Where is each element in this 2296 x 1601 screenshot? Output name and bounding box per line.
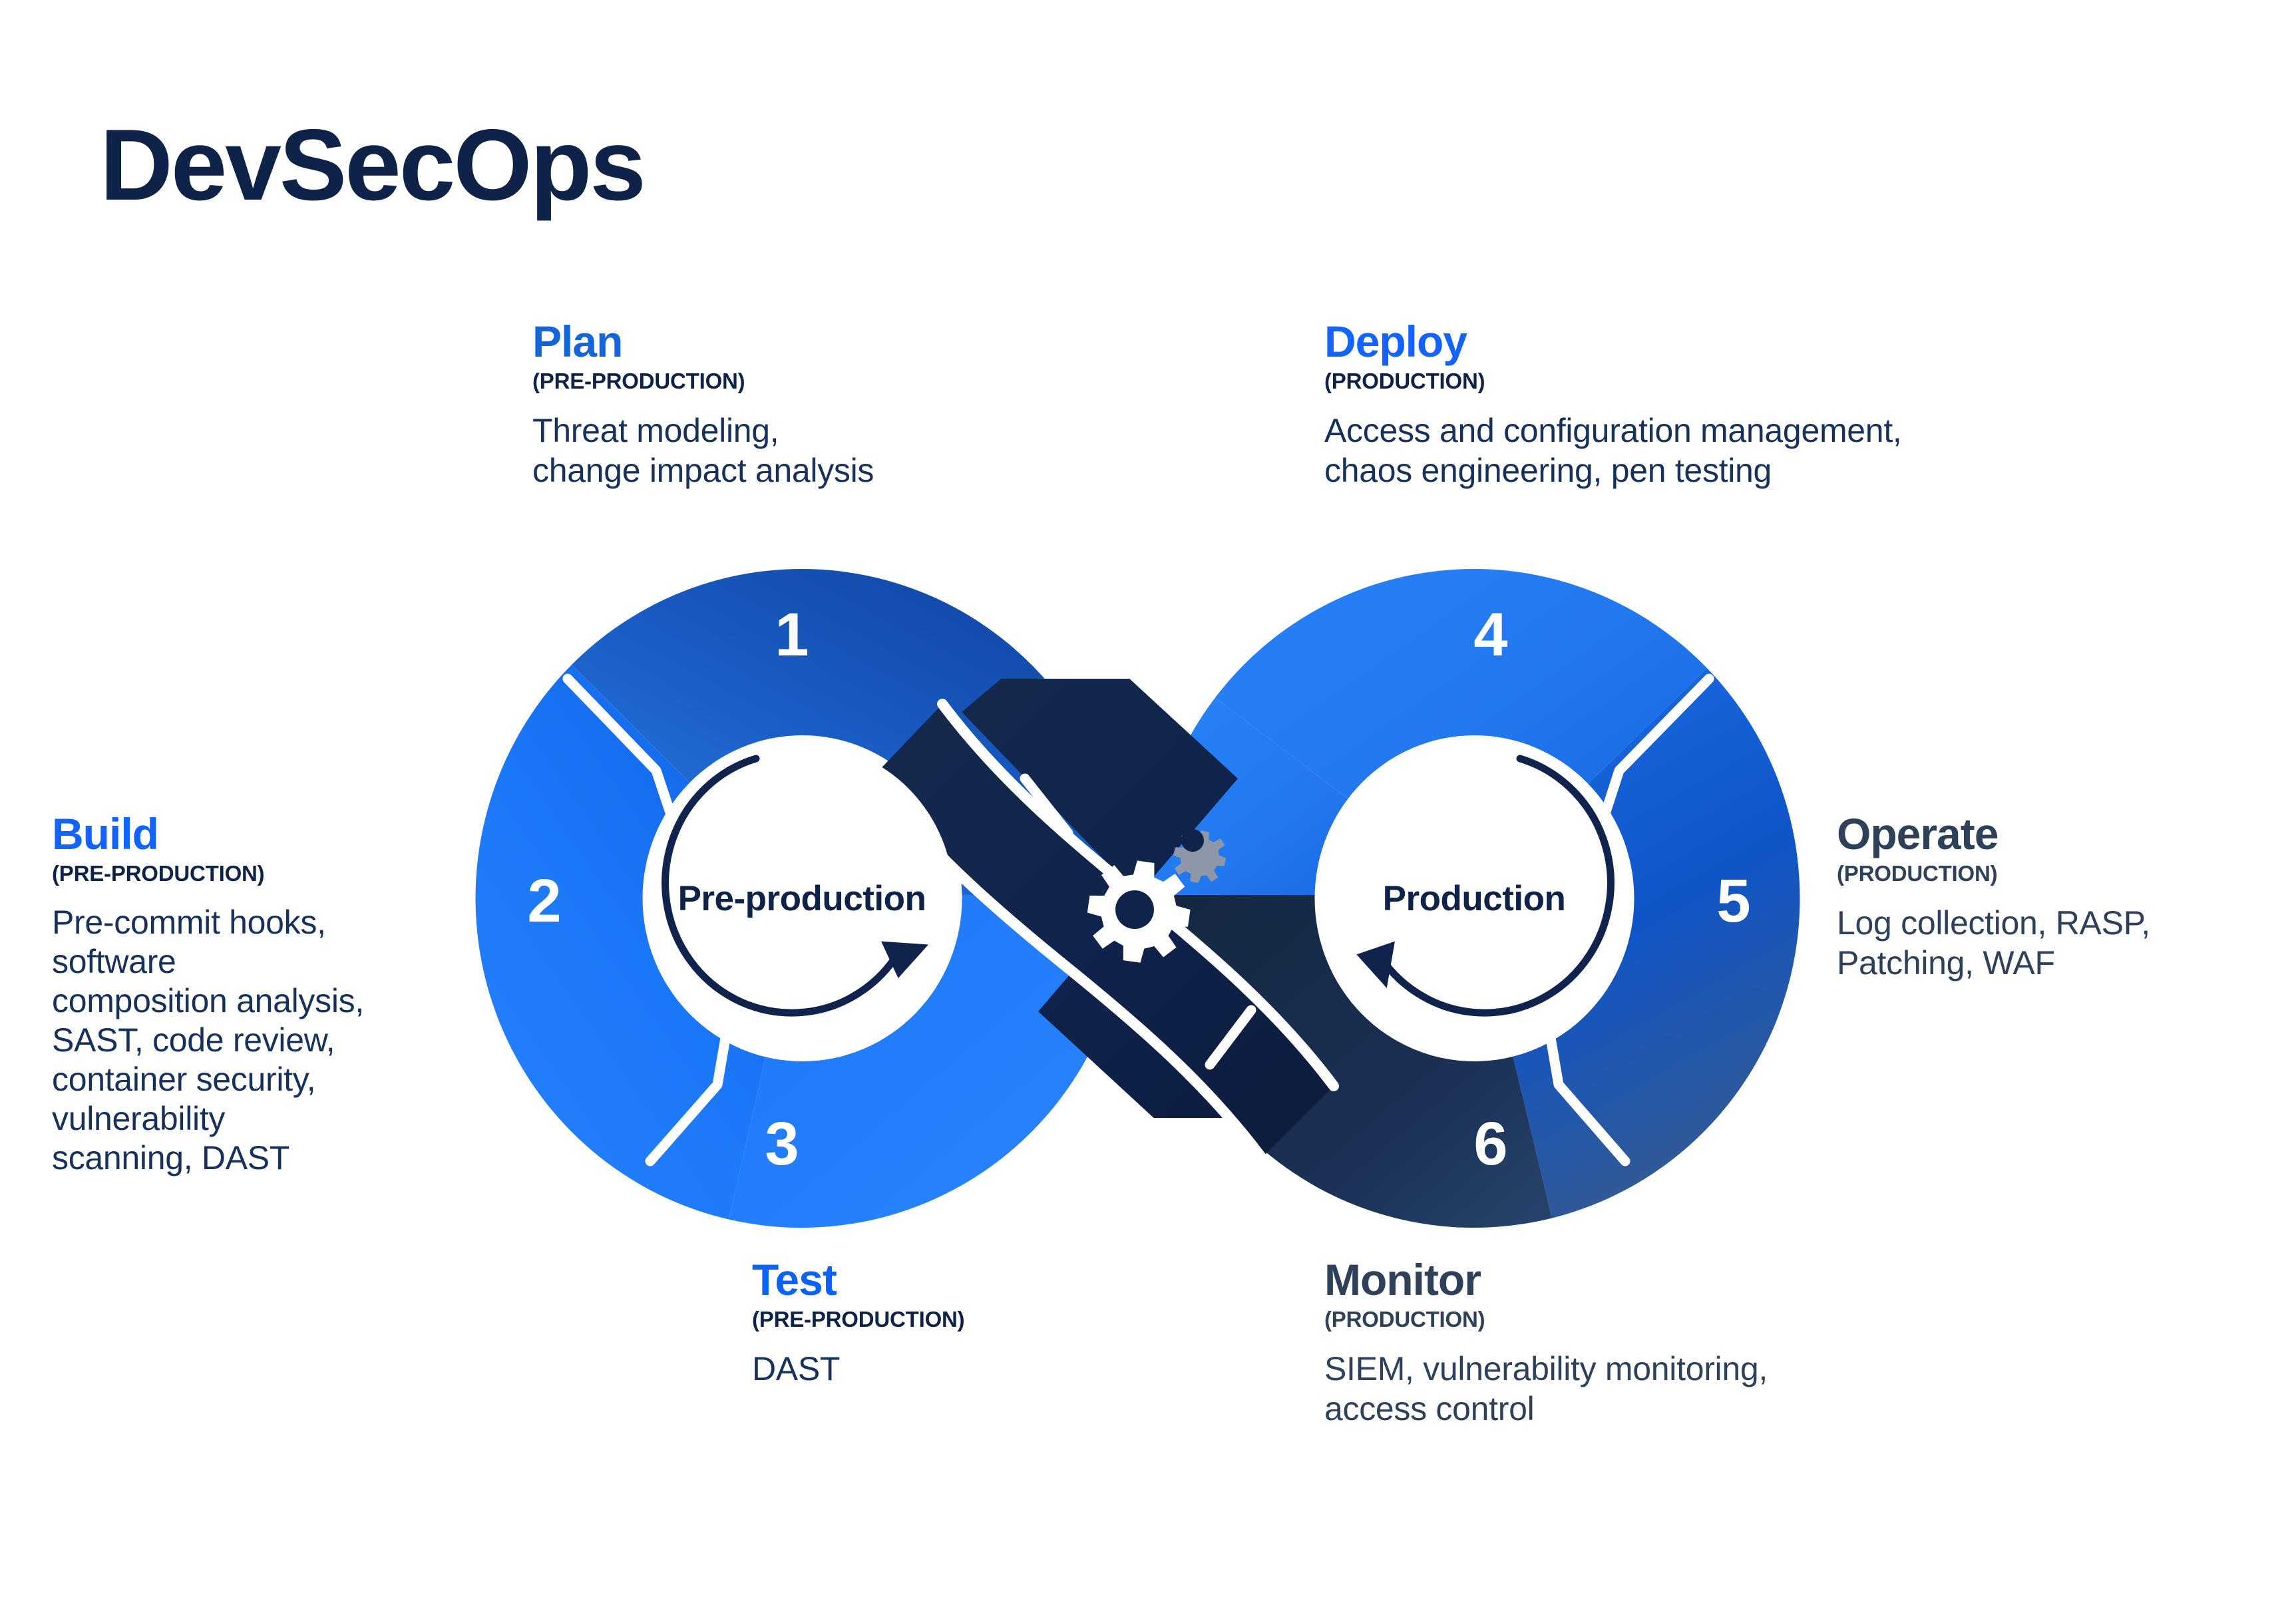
segment-number-2: 2 [527,867,561,935]
stage-heading-plan: Plan [532,319,1131,363]
stage-label-plan: Plan (PRE-PRODUCTION) Threat modeling, c… [532,319,1131,490]
segment-number-4: 4 [1473,601,1507,669]
stage-heading-operate: Operate [1837,812,2276,856]
stage-heading-test: Test [752,1258,1218,1302]
stage-environment-plan: (PRE-PRODUCTION) [532,370,1131,393]
stage-environment-operate: (PRODUCTION) [1837,862,2276,886]
stage-description-build: Pre-commit hooks, software composition a… [52,903,531,1178]
stage-heading-monitor: Monitor [1324,1258,2056,1302]
segment-number-5: 5 [1716,867,1750,935]
stage-environment-deploy: (PRODUCTION) [1324,370,2223,393]
stage-label-monitor: Monitor (PRODUCTION) SIEM, vulnerability… [1324,1258,2056,1429]
stage-environment-monitor: (PRODUCTION) [1324,1308,2056,1332]
segment-number-1: 1 [775,601,809,669]
stage-label-deploy: Deploy (PRODUCTION) Access and configura… [1324,319,2223,490]
production-label: Production [1383,879,1566,918]
stage-label-build: Build (PRE-PRODUCTION) Pre-commit hooks,… [52,812,531,1178]
stage-environment-test: (PRE-PRODUCTION) [752,1308,1218,1332]
stage-description-test: DAST [752,1349,1218,1389]
stage-heading-deploy: Deploy [1324,319,2223,363]
segment-number-3: 3 [765,1110,799,1178]
stage-description-operate: Log collection, RASP, Patching, WAF [1837,903,2276,983]
stage-description-deploy: Access and configuration management, cha… [1324,411,2223,490]
stage-description-plan: Threat modeling, change impact analysis [532,411,1131,490]
stage-description-monitor: SIEM, vulnerability monitoring, access c… [1324,1349,2056,1429]
devsecops-infographic: DevSecOps Plan (PRE-PRODUCTION) Threat m… [0,0,2296,1601]
stage-label-test: Test (PRE-PRODUCTION) DAST [752,1258,1218,1389]
stage-environment-build: (PRE-PRODUCTION) [52,862,531,886]
preproduction-label: Pre-production [678,879,926,918]
infinity-loop-diagram: Pre-production Production 1 2 3 4 5 6 [466,559,1810,1231]
page-title: DevSecOps [100,114,644,216]
stage-label-operate: Operate (PRODUCTION) Log collection, RAS… [1837,812,2276,983]
segment-number-6: 6 [1473,1110,1507,1178]
stage-heading-build: Build [52,812,531,856]
